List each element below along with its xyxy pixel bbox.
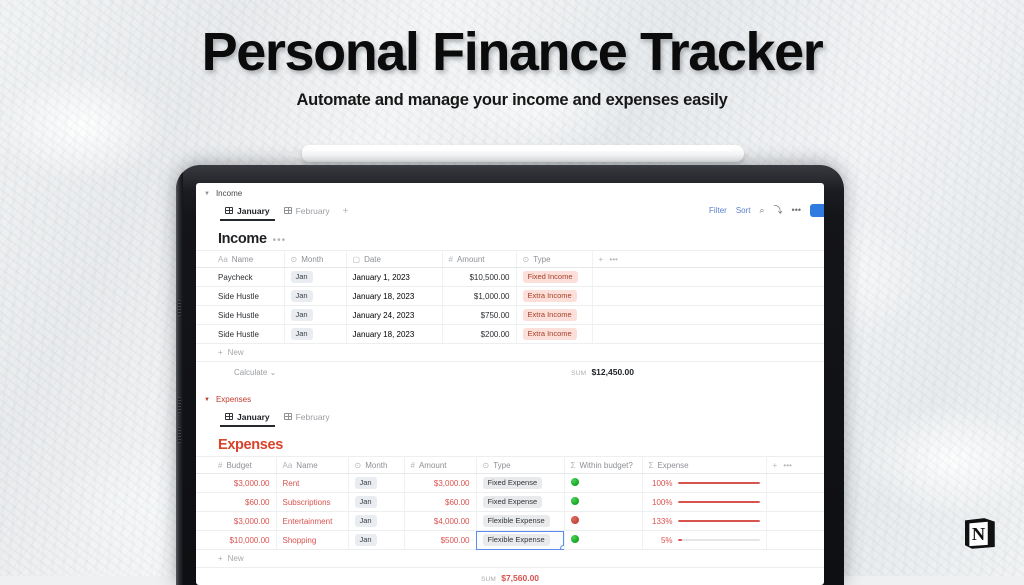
month-chip: Jan — [355, 534, 377, 546]
expenses-table: #Budget AaName ⊙Month #Amount ⊙Type ΣWit… — [196, 456, 824, 550]
cell-type[interactable]: Fixed Income — [516, 268, 592, 287]
tablet-left-edge — [176, 165, 183, 585]
table-row[interactable]: PaycheckJanJanuary 1, 2023$10,500.00Fixe… — [196, 268, 824, 287]
expenses-tabbar: January February — [196, 407, 824, 428]
table-icon — [225, 207, 233, 214]
month-chip: Jan — [355, 477, 377, 489]
type-chip: Fixed Income — [523, 271, 578, 283]
new-row-label: New — [228, 554, 244, 563]
cell-amount[interactable]: $10,500.00 — [442, 268, 516, 287]
text-type-icon: Aa — [218, 255, 228, 264]
tab-expenses-january[interactable]: January — [218, 409, 277, 427]
cell-month[interactable]: Jan — [348, 531, 404, 550]
income-sum-label: SUM — [571, 370, 586, 377]
select-type-icon: ⊙ — [523, 255, 530, 264]
income-add-column-cell[interactable]: + ••• — [592, 251, 824, 268]
table-icon — [225, 413, 233, 420]
expenses-database-title: Expenses — [218, 437, 283, 453]
tablet-device: ▼ Income January February + Filter Sort … — [176, 165, 844, 585]
cell-empty — [592, 306, 824, 325]
table-row[interactable]: $10,000.00ShoppingJan$500.00Flexible Exp… — [196, 531, 824, 550]
page-title: Personal Finance Tracker — [0, 24, 1024, 80]
cell-within-budget[interactable] — [564, 493, 642, 512]
tab-income-february[interactable]: February — [277, 203, 337, 221]
tab-label: February — [296, 206, 330, 216]
type-chip: Extra Income — [523, 309, 577, 321]
cell-name[interactable]: Rent — [276, 474, 348, 493]
table-row[interactable]: Side HustleJanJanuary 18, 2023$200.00Ext… — [196, 325, 824, 344]
type-chip: Extra Income — [523, 328, 577, 340]
cell-date[interactable]: January 18, 2023 — [346, 287, 442, 306]
formula-type-icon: Σ — [649, 461, 654, 470]
cell-within-budget[interactable] — [564, 531, 642, 550]
column-header-amount[interactable]: #Amount — [404, 457, 476, 474]
cell-month[interactable]: Jan — [348, 474, 404, 493]
month-chip: Jan — [355, 515, 377, 527]
table-row[interactable]: $3,000.00EntertainmentJan$4,000.00Flexib… — [196, 512, 824, 531]
cell-name[interactable]: Side Hustle — [196, 306, 284, 325]
cell-name[interactable]: Shopping — [276, 531, 348, 550]
column-header-type[interactable]: ⊙Type — [516, 251, 592, 268]
speaker-grille-icon — [178, 427, 181, 443]
cell-empty — [592, 268, 824, 287]
cell-amount[interactable]: $200.00 — [442, 325, 516, 344]
notion-logo-letter: N — [972, 524, 986, 544]
column-header-date[interactable]: ▢Date — [346, 251, 442, 268]
cell-amount[interactable]: $500.00 — [404, 531, 476, 550]
new-entry-button[interactable] — [810, 204, 824, 217]
table-row[interactable]: $3,000.00RentJan$3,000.00Fixed Expense10… — [196, 474, 824, 493]
cell-expense-percent[interactable]: 100% — [642, 493, 766, 512]
expenses-add-column-cell[interactable]: + ••• — [766, 457, 824, 474]
cell-amount[interactable]: $4,000.00 — [404, 512, 476, 531]
status-dot-green-icon — [571, 535, 579, 543]
new-row-label: New — [228, 348, 244, 357]
stylus-tip — [282, 149, 304, 159]
income-toggle-label: Income — [216, 189, 242, 198]
column-header-month[interactable]: ⊙Month — [348, 457, 404, 474]
month-chip: Jan — [291, 309, 313, 321]
cell-type[interactable]: Flexible Expense — [476, 531, 564, 550]
cell-date[interactable]: January 24, 2023 — [346, 306, 442, 325]
percent-value: 100% — [649, 479, 673, 488]
tab-label: February — [296, 412, 330, 422]
cell-name[interactable]: Side Hustle — [196, 325, 284, 344]
cell-empty — [766, 512, 824, 531]
view-toolbar: Filter Sort ⌕ ⤵ ••• — [709, 204, 824, 217]
cell-month[interactable]: Jan — [348, 493, 404, 512]
column-header-within-budget[interactable]: ΣWithin budget? — [564, 457, 642, 474]
percent-value: 100% — [649, 498, 673, 507]
cell-amount[interactable]: $3,000.00 — [404, 474, 476, 493]
expenses-database-header: Expenses — [196, 428, 824, 456]
cell-amount[interactable]: $60.00 — [404, 493, 476, 512]
cell-name[interactable]: Paycheck — [196, 268, 284, 287]
income-sum-value: $12,450.00 — [591, 367, 634, 377]
income-sum[interactable]: SUM $12,450.00 — [571, 367, 634, 377]
type-chip: Flexible Expense — [483, 534, 550, 546]
cell-name[interactable]: Entertainment — [276, 512, 348, 531]
cell-month[interactable]: Jan — [348, 512, 404, 531]
plus-icon: + — [218, 348, 223, 357]
cell-date[interactable]: January 18, 2023 — [346, 325, 442, 344]
tab-label: January — [237, 206, 270, 216]
month-chip: Jan — [291, 271, 313, 283]
cell-type[interactable]: Flexible Expense — [476, 512, 564, 531]
cell-expense-percent[interactable]: 5% — [642, 531, 766, 550]
chevron-down-icon[interactable]: ▼ — [204, 191, 210, 197]
progress-bar — [678, 501, 760, 503]
cell-budget[interactable]: $3,000.00 — [196, 512, 276, 531]
number-type-icon: # — [218, 461, 222, 470]
cell-expense-percent[interactable]: 133% — [642, 512, 766, 531]
chevron-down-icon[interactable]: ▼ — [204, 397, 210, 403]
income-tabbar: January February + Filter Sort ⌕ ⤵ ••• — [196, 201, 824, 222]
column-header-name[interactable]: AaName — [196, 251, 284, 268]
cell-type[interactable]: Extra Income — [516, 306, 592, 325]
status-dot-red-icon — [571, 516, 579, 524]
cell-month[interactable]: Jan — [284, 325, 346, 344]
cell-within-budget[interactable] — [564, 474, 642, 493]
automation-flash-icon[interactable]: ⤵ — [774, 206, 783, 215]
status-dot-green-icon — [571, 497, 579, 505]
month-chip: Jan — [291, 290, 313, 302]
section-divider — [196, 382, 824, 389]
expenses-toggle-label: Expenses — [216, 395, 251, 404]
select-type-icon: ⊙ — [355, 461, 362, 470]
sort-button[interactable]: Sort — [736, 206, 751, 215]
expenses-sum[interactable]: SUM $7,560.00 — [481, 573, 539, 583]
income-table-header-row: AaName ⊙Month ▢Date #Amount ⊙Type + ••• — [196, 251, 824, 268]
number-type-icon: # — [411, 461, 415, 470]
table-icon — [284, 413, 292, 420]
add-column-icon[interactable]: + — [599, 255, 604, 264]
column-header-budget[interactable]: #Budget — [196, 457, 276, 474]
speaker-grille-icon — [178, 300, 181, 316]
expenses-sum-label: SUM — [481, 576, 496, 583]
cell-empty — [592, 325, 824, 344]
stylus-pen — [282, 143, 744, 165]
income-database-header: Income ••• — [196, 222, 824, 250]
tab-expenses-february[interactable]: February — [277, 409, 337, 427]
status-dot-green-icon — [571, 478, 579, 486]
tablet-screen: ▼ Income January February + Filter Sort … — [196, 183, 824, 585]
cell-empty — [592, 287, 824, 306]
tab-label: January — [237, 412, 270, 422]
page-subtitle: Automate and manage your income and expe… — [0, 91, 1024, 110]
cell-budget[interactable]: $3,000.00 — [196, 474, 276, 493]
income-new-row-button[interactable]: + New — [196, 344, 824, 362]
calendar-icon: ▢ — [353, 255, 361, 264]
percent-value: 133% — [649, 517, 673, 526]
cell-budget[interactable]: $10,000.00 — [196, 531, 276, 550]
expenses-footer: SUM $7,560.00 — [196, 568, 824, 585]
percent-value: 5% — [649, 536, 673, 545]
cell-type[interactable]: Extra Income — [516, 325, 592, 344]
table-row[interactable]: $60.00SubscriptionsJan$60.00Fixed Expens… — [196, 493, 824, 512]
search-icon[interactable]: ⌕ — [759, 206, 764, 215]
type-chip: Flexible Expense — [483, 515, 550, 527]
income-footer: Calculate ⌄ SUM $12,450.00 — [196, 362, 824, 382]
income-calculate-button[interactable]: Calculate ⌄ — [196, 368, 276, 377]
column-header-month[interactable]: ⊙Month — [284, 251, 346, 268]
plus-icon: + — [218, 554, 223, 563]
cell-empty — [766, 531, 824, 550]
type-chip: Fixed Expense — [483, 477, 543, 489]
number-type-icon: # — [449, 255, 453, 264]
column-header-name[interactable]: AaName — [276, 457, 348, 474]
income-database-title: Income — [218, 231, 267, 247]
cell-empty — [766, 493, 824, 512]
cell-month[interactable]: Jan — [284, 287, 346, 306]
expenses-new-row-button[interactable]: + New — [196, 550, 824, 568]
add-column-icon[interactable]: + — [773, 461, 778, 470]
cell-date[interactable]: January 1, 2023 — [346, 268, 442, 287]
column-menu-icon[interactable]: ••• — [783, 461, 791, 470]
cell-type[interactable]: Fixed Expense — [476, 474, 564, 493]
database-menu-icon[interactable]: ••• — [273, 235, 287, 246]
progress-bar — [678, 482, 760, 484]
cell-type[interactable]: Extra Income — [516, 287, 592, 306]
table-row[interactable]: Side HustleJanJanuary 18, 2023$1,000.00E… — [196, 287, 824, 306]
column-menu-icon[interactable]: ••• — [609, 255, 617, 264]
cell-month[interactable]: Jan — [284, 306, 346, 325]
column-header-type[interactable]: ⊙Type — [476, 457, 564, 474]
notion-logo: N — [958, 512, 1000, 554]
expenses-table-header-row: #Budget AaName ⊙Month #Amount ⊙Type ΣWit… — [196, 457, 824, 474]
progress-bar — [678, 539, 760, 541]
speaker-grille-icon — [178, 397, 181, 413]
income-toggle[interactable]: ▼ Income — [196, 183, 824, 201]
cell-amount[interactable]: $750.00 — [442, 306, 516, 325]
cell-amount[interactable]: $1,000.00 — [442, 287, 516, 306]
select-type-icon: ⊙ — [483, 461, 490, 470]
column-header-expense[interactable]: ΣExpense — [642, 457, 766, 474]
stylus-highlight — [316, 147, 731, 151]
formula-type-icon: Σ — [571, 461, 576, 470]
text-type-icon: Aa — [283, 461, 293, 470]
column-header-amount[interactable]: #Amount — [442, 251, 516, 268]
hero-headings: Personal Finance Tracker Automate and ma… — [0, 24, 1024, 110]
month-chip: Jan — [355, 496, 377, 508]
cell-month[interactable]: Jan — [284, 268, 346, 287]
tab-income-january[interactable]: January — [218, 203, 277, 221]
cell-type[interactable]: Fixed Expense — [476, 493, 564, 512]
expenses-toggle[interactable]: ▼ Expenses — [196, 389, 824, 407]
cell-budget[interactable]: $60.00 — [196, 493, 276, 512]
month-chip: Jan — [291, 328, 313, 340]
cell-expense-percent[interactable]: 100% — [642, 474, 766, 493]
cell-empty — [766, 474, 824, 493]
progress-bar — [678, 520, 760, 522]
select-type-icon: ⊙ — [291, 255, 298, 264]
income-table: AaName ⊙Month ▢Date #Amount ⊙Type + ••• … — [196, 250, 824, 344]
add-tab-button[interactable]: + — [337, 206, 355, 217]
filter-button[interactable]: Filter — [709, 206, 727, 215]
cell-name[interactable]: Side Hustle — [196, 287, 284, 306]
cell-name[interactable]: Subscriptions — [276, 493, 348, 512]
expenses-sum-value: $7,560.00 — [501, 573, 539, 583]
table-row[interactable]: Side HustleJanJanuary 24, 2023$750.00Ext… — [196, 306, 824, 325]
type-chip: Extra Income — [523, 290, 577, 302]
more-options-icon[interactable]: ••• — [792, 206, 801, 215]
table-icon — [284, 207, 292, 214]
type-chip: Fixed Expense — [483, 496, 543, 508]
cell-within-budget[interactable] — [564, 512, 642, 531]
